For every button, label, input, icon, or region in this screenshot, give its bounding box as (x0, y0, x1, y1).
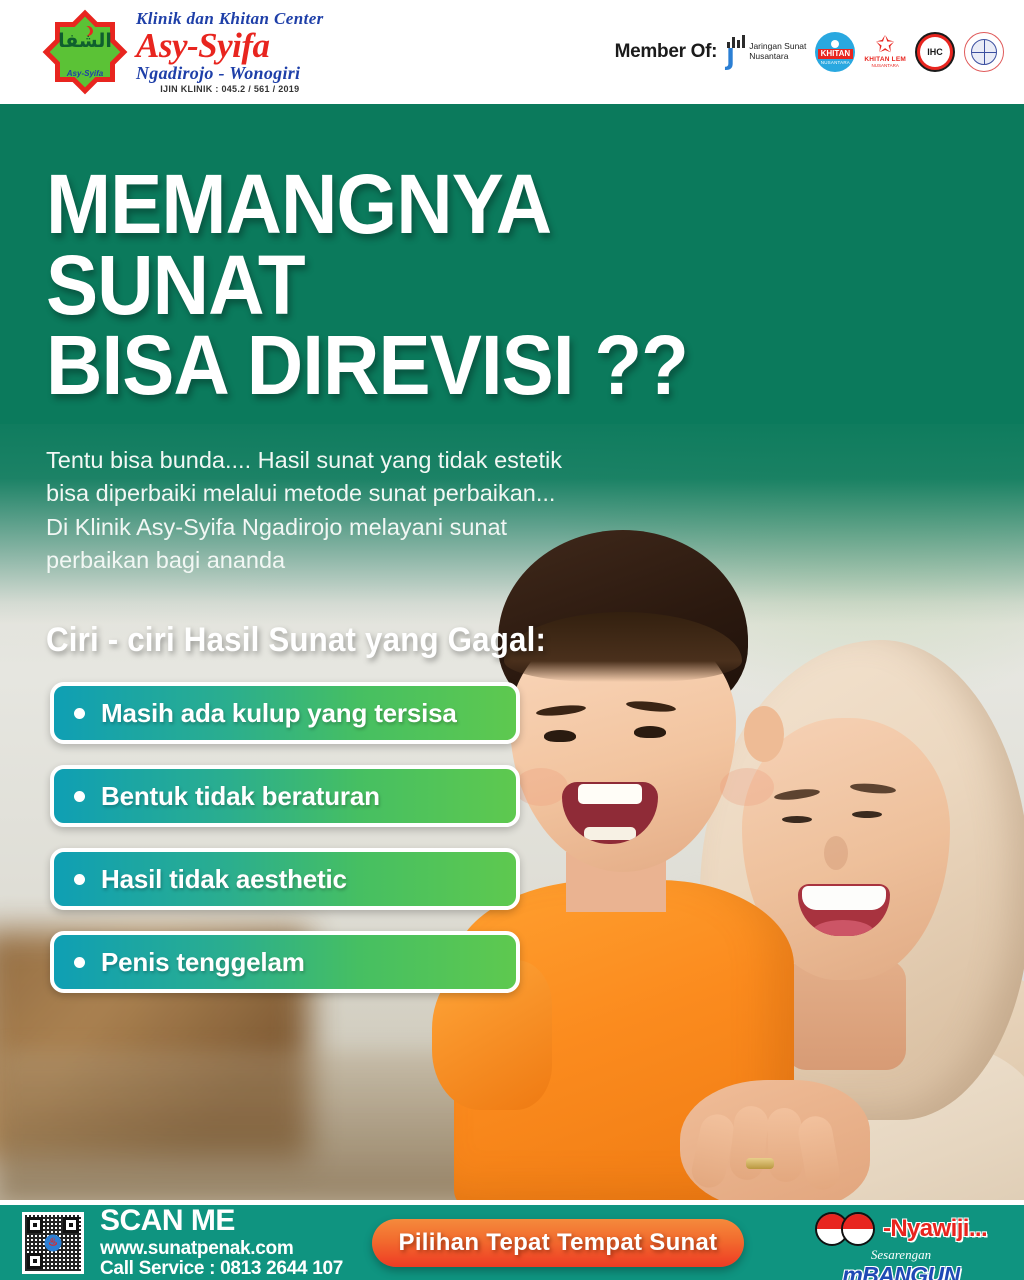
khitan-badge-sub: NUSANTARA (821, 60, 850, 65)
clinic-tagline: Klinik dan Khitan Center (136, 10, 324, 27)
member-logo-jaringan-sunat-nusantara: J Jaringan Sunat Nusantara (725, 35, 806, 69)
clinic-license: IJIN KLINIK : 045.2 / 561 / 2019 (136, 85, 324, 94)
jsn-logo-icon: J Jaringan Sunat Nusantara (725, 35, 806, 69)
clinic-name-block: Klinik dan Khitan Center Asy-Syifa Ngadi… (136, 10, 324, 94)
header-bar: الشفا Asy-Syifa Klinik dan Khitan Center… (0, 0, 1024, 104)
qr-finder-top-right (63, 1217, 79, 1233)
clinic-name: Asy-Syifa (136, 28, 324, 63)
cta-button[interactable]: Pilihan Tepat Tempat Sunat (372, 1219, 744, 1267)
ihc-label: IHC (920, 37, 950, 67)
go-nyawiji-label: -Nyawiji... (883, 1215, 987, 1243)
member-logo-khitan-nusantara: KHITAN NUSANTARA (815, 32, 855, 72)
lede-line-3: Di Klinik Asy-Syifa Ngadirojo melayani s… (46, 511, 666, 544)
jsn-logo-text: Jaringan Sunat Nusantara (749, 42, 806, 62)
website-url[interactable]: www.sunatpenak.com (100, 1239, 343, 1258)
bullets-subheading: Ciri - ciri Hasil Sunat yang Gagal: (46, 621, 946, 660)
jsn-mark-icon: J (725, 35, 747, 69)
lede-paragraph: Tentu bisa bunda.... Hasil sunat yang ti… (46, 444, 666, 577)
list-item: Penis tenggelam (50, 931, 520, 993)
jsn-letter-icon: J (726, 47, 735, 70)
finger (796, 1114, 842, 1193)
symptom-list: Masih ada kulup yang tersisa Bentuk tida… (50, 682, 520, 993)
list-item-label: Hasil tidak aesthetic (101, 864, 347, 895)
clinic-location: Ngadirojo - Wonogiri (136, 64, 324, 82)
member-of-section: Member Of: J Jaringan Sunat (615, 32, 1004, 72)
headline-line-1: MEMANGNYA SUNAT (46, 164, 716, 325)
qr-finder-bottom-left (27, 1253, 43, 1269)
go-nyawiji-logo: -Nyawiji... Sesarengan mBANGUN (796, 1209, 1006, 1280)
anoca-globe-icon (971, 39, 997, 65)
qr-finder-top-left (27, 1217, 43, 1233)
bullet-dot-icon (74, 708, 85, 719)
khitan-lem-icon: ✩ KHITAN LEM NUSANTARA (864, 36, 906, 68)
call-service-number[interactable]: Call Service : 0813 2644 107 (100, 1259, 343, 1278)
logo-badge-subtitle: Asy-Syifa (46, 69, 124, 78)
clinic-logo-icon: الشفا Asy-Syifa (46, 12, 124, 92)
go-circle-right (841, 1212, 875, 1246)
finger (728, 1104, 770, 1181)
scan-info-block: SCAN ME www.sunatpenak.com Call Service … (100, 1206, 343, 1278)
qr-center-logo-icon: ♨ (45, 1234, 62, 1251)
ihc-icon: IHC (915, 32, 955, 72)
main-content: MEMANGNYA SUNAT BISA DIREVISI ?? Tentu b… (0, 104, 1024, 1014)
khitan-nusantara-icon: KHITAN NUSANTARA (815, 32, 855, 72)
qr-code-icon[interactable]: ♨ (22, 1212, 84, 1274)
go-nyawiji-row: -Nyawiji... (796, 1209, 1006, 1249)
list-item: Masih ada kulup yang tersisa (50, 682, 520, 744)
member-of-label: Member Of: (615, 41, 718, 63)
lede-line-1: Tentu bisa bunda.... Hasil sunat yang ti… (46, 444, 666, 477)
lede-line-2: bisa diperbaiki melalui metode sunat per… (46, 477, 666, 510)
lede-line-4: perbaikan bagi ananda (46, 544, 666, 577)
footer-bar: ♨ SCAN ME www.sunatpenak.com Call Servic… (0, 1200, 1024, 1280)
poster-root: الشفا Asy-Syifa Klinik dan Khitan Center… (0, 0, 1024, 1280)
clinic-brand: الشفا Asy-Syifa Klinik dan Khitan Center… (46, 10, 324, 94)
khitan-lem-title: KHITAN LEM (864, 56, 906, 63)
cta-button-label: Pilihan Tepat Tempat Sunat (399, 1229, 718, 1257)
member-logo-anoca (964, 32, 1004, 72)
headline-line-2: BISA DIREVISI ?? (46, 325, 716, 406)
bullet-dot-icon (74, 874, 85, 885)
list-item-label: Penis tenggelam (101, 947, 305, 978)
wedding-ring (746, 1158, 774, 1169)
khitan-lem-mark-icon: ✩ (876, 36, 895, 56)
finger (767, 1107, 804, 1182)
member-logo-list: J Jaringan Sunat Nusantara KHITAN NUSANT… (725, 32, 1004, 72)
headline-block: MEMANGNYA SUNAT BISA DIREVISI ?? (46, 164, 766, 406)
bullet-dot-icon (74, 791, 85, 802)
go-nyawiji-word: mBANGUN (796, 1262, 1006, 1280)
list-item-label: Masih ada kulup yang tersisa (101, 698, 457, 729)
khitan-badge-text: KHITAN (818, 49, 854, 59)
member-logo-ihc: IHC (915, 32, 955, 72)
logo-arabic-text: الشفا (46, 32, 124, 51)
scan-me-title: SCAN ME (100, 1206, 343, 1237)
jsn-line2: Nusantara (749, 52, 806, 62)
khitan-emblem-icon (831, 40, 839, 48)
bullet-dot-icon (74, 957, 85, 968)
list-item-label: Bentuk tidak beraturan (101, 781, 380, 812)
khitan-lem-sub: NUSANTARA (871, 63, 898, 68)
go-circles-icon (815, 1212, 883, 1246)
list-item: Bentuk tidak beraturan (50, 765, 520, 827)
anoca-icon (964, 32, 1004, 72)
go-nyawiji-tagline: Sesarengan (796, 1247, 1006, 1263)
mother-hand (680, 1080, 870, 1210)
member-logo-khitan-lem: ✩ KHITAN LEM NUSANTARA (864, 36, 906, 68)
list-item: Hasil tidak aesthetic (50, 848, 520, 910)
